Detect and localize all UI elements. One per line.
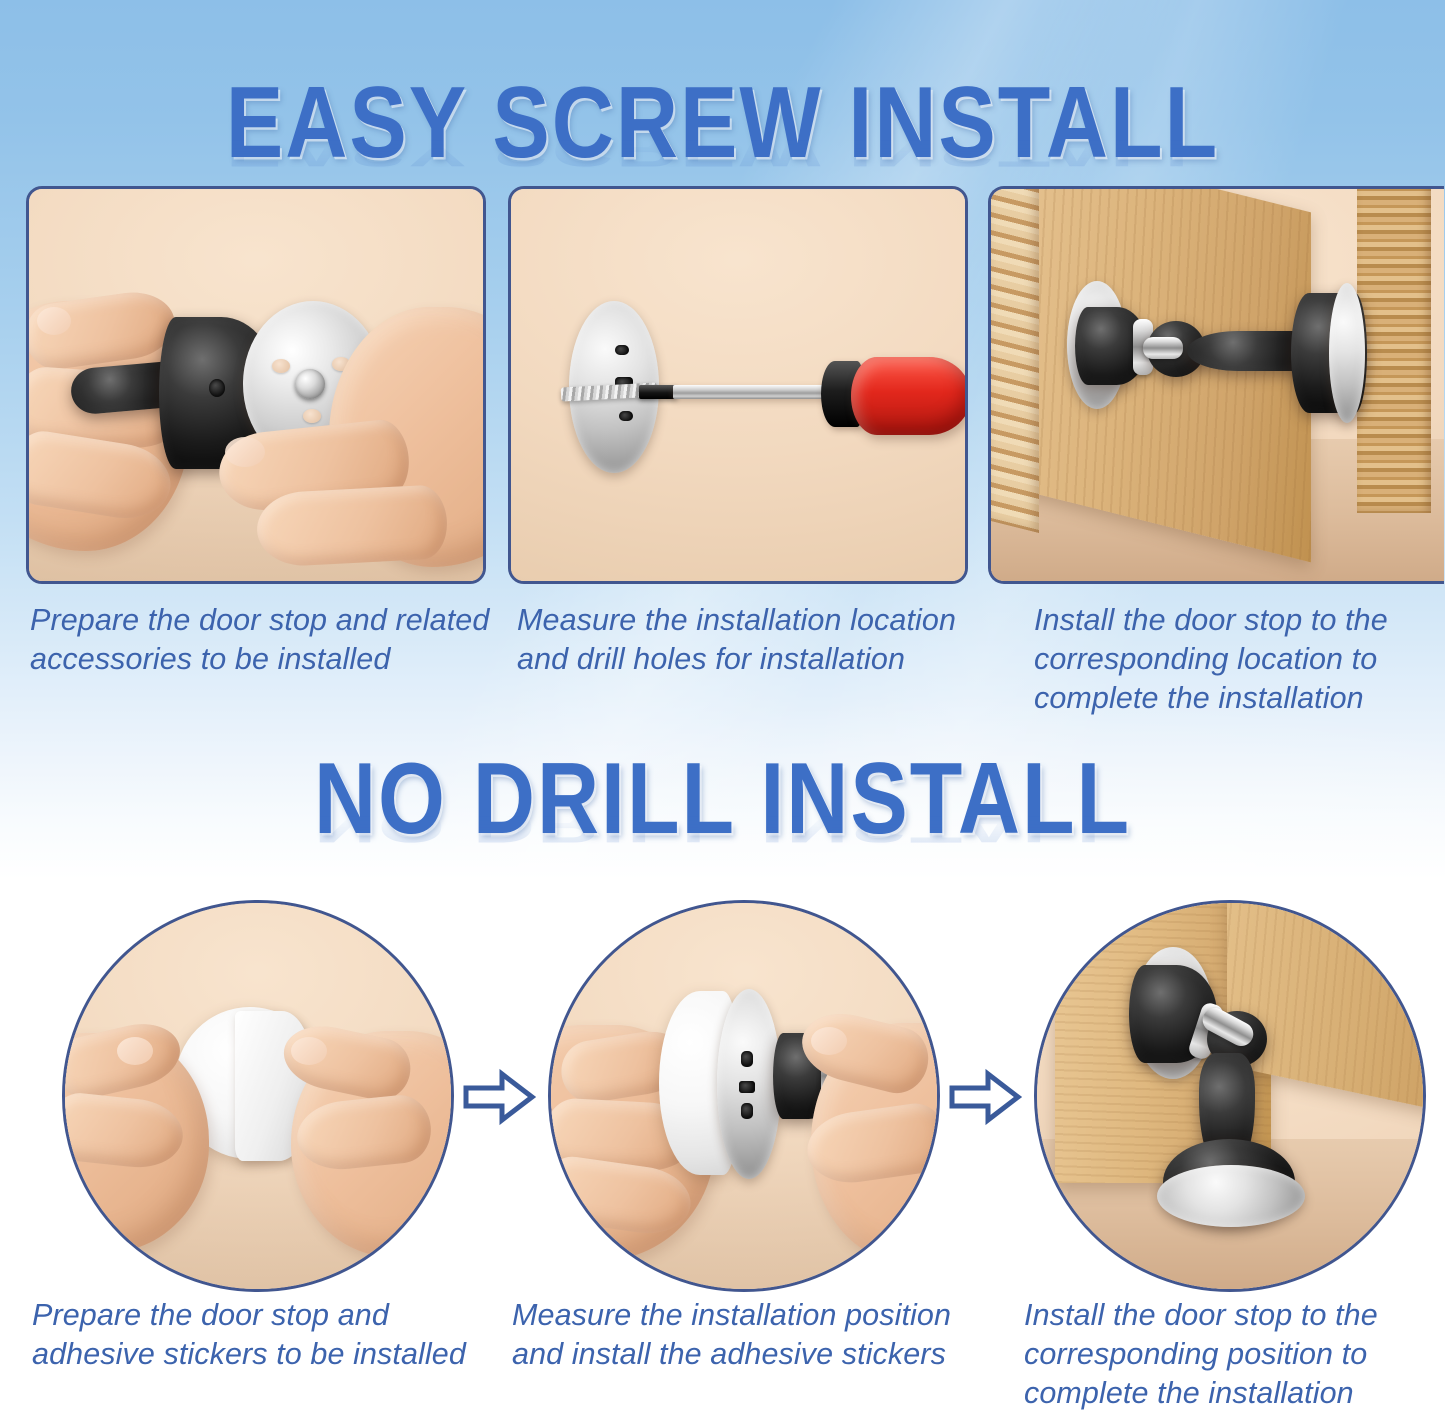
screw-step-1-caption: Prepare the door stop and related access… [30, 601, 500, 679]
scene-installed-doorstop [991, 189, 1444, 581]
plate-screw-head [295, 369, 325, 399]
right-middle-finger [255, 484, 449, 568]
nodrill-step-2-caption: Measure the installation position and in… [512, 1296, 982, 1374]
screw-step-2-caption: Measure the installation location and dr… [517, 601, 987, 679]
plate-slot-bottom [619, 411, 633, 421]
plywood-wall-edge [1357, 186, 1431, 513]
scene-hands-holding-doorstop [29, 189, 483, 581]
scene-applying-sticker-to-base [551, 903, 937, 1289]
scene-peeling-adhesive-sticker [65, 903, 451, 1289]
arrow-right-icon-1 [462, 1066, 536, 1128]
screw-step-1-photo [26, 186, 486, 584]
wall-side-mounting-plate [1329, 283, 1365, 423]
nodrill-step-3-photo [1034, 900, 1426, 1292]
screwdriver-tip [639, 385, 677, 399]
screw-step-2-photo [508, 186, 968, 584]
right-index-nail [225, 437, 265, 467]
plate-pad-dot-bottom [303, 409, 321, 423]
door-grooved-edge [991, 186, 1039, 533]
right-thumb-nail [291, 1037, 327, 1065]
screw-step-3-photo [988, 186, 1444, 584]
base-plate-slot-top [741, 1051, 753, 1067]
nodrill-step-2-photo [548, 900, 940, 1292]
scene-screwdriver-on-plate [511, 189, 965, 581]
ball-joint-ring [1143, 337, 1183, 359]
left-thumb-nail [117, 1037, 153, 1065]
plate-pad-dot-top-left [272, 359, 290, 373]
nodrill-step-3-caption: Install the door stop to the correspondi… [1024, 1296, 1424, 1413]
base-plate-slot-bottom [741, 1103, 753, 1119]
heading-no-drill-install: NO DRILL INSTALL NO DRILL INSTALL [0, 748, 1445, 849]
floor-adhesive-plate [1157, 1165, 1305, 1227]
nodrill-step-1-photo [62, 900, 454, 1292]
heading-easy-screw-install: EASY SCREW INSTALL EASY SCREW INSTALL [0, 72, 1445, 173]
base-plate-slot-middle [739, 1081, 755, 1093]
arrow-right-icon-2 [948, 1066, 1022, 1128]
screwdriver-handle [851, 357, 968, 435]
plate-slot-top [615, 345, 629, 355]
scene-installed-doorstop-no-drill [1037, 903, 1423, 1289]
left-thumb-nail [37, 307, 71, 335]
right-thumb-nail [811, 1027, 847, 1055]
doorstop-center-hole [209, 379, 225, 397]
nodrill-step-1-caption: Prepare the door stop and adhesive stick… [32, 1296, 492, 1374]
heading-no-drill-install-text: NO DRILL INSTALL [314, 742, 1131, 855]
infographic-page: EASY SCREW INSTALL EASY SCREW INSTALL [0, 0, 1445, 1406]
heading-easy-screw-install-text: EASY SCREW INSTALL [226, 66, 1219, 179]
screw-step-3-caption: Install the door stop to the correspondi… [1034, 601, 1434, 718]
screwdriver-shaft [673, 385, 827, 399]
